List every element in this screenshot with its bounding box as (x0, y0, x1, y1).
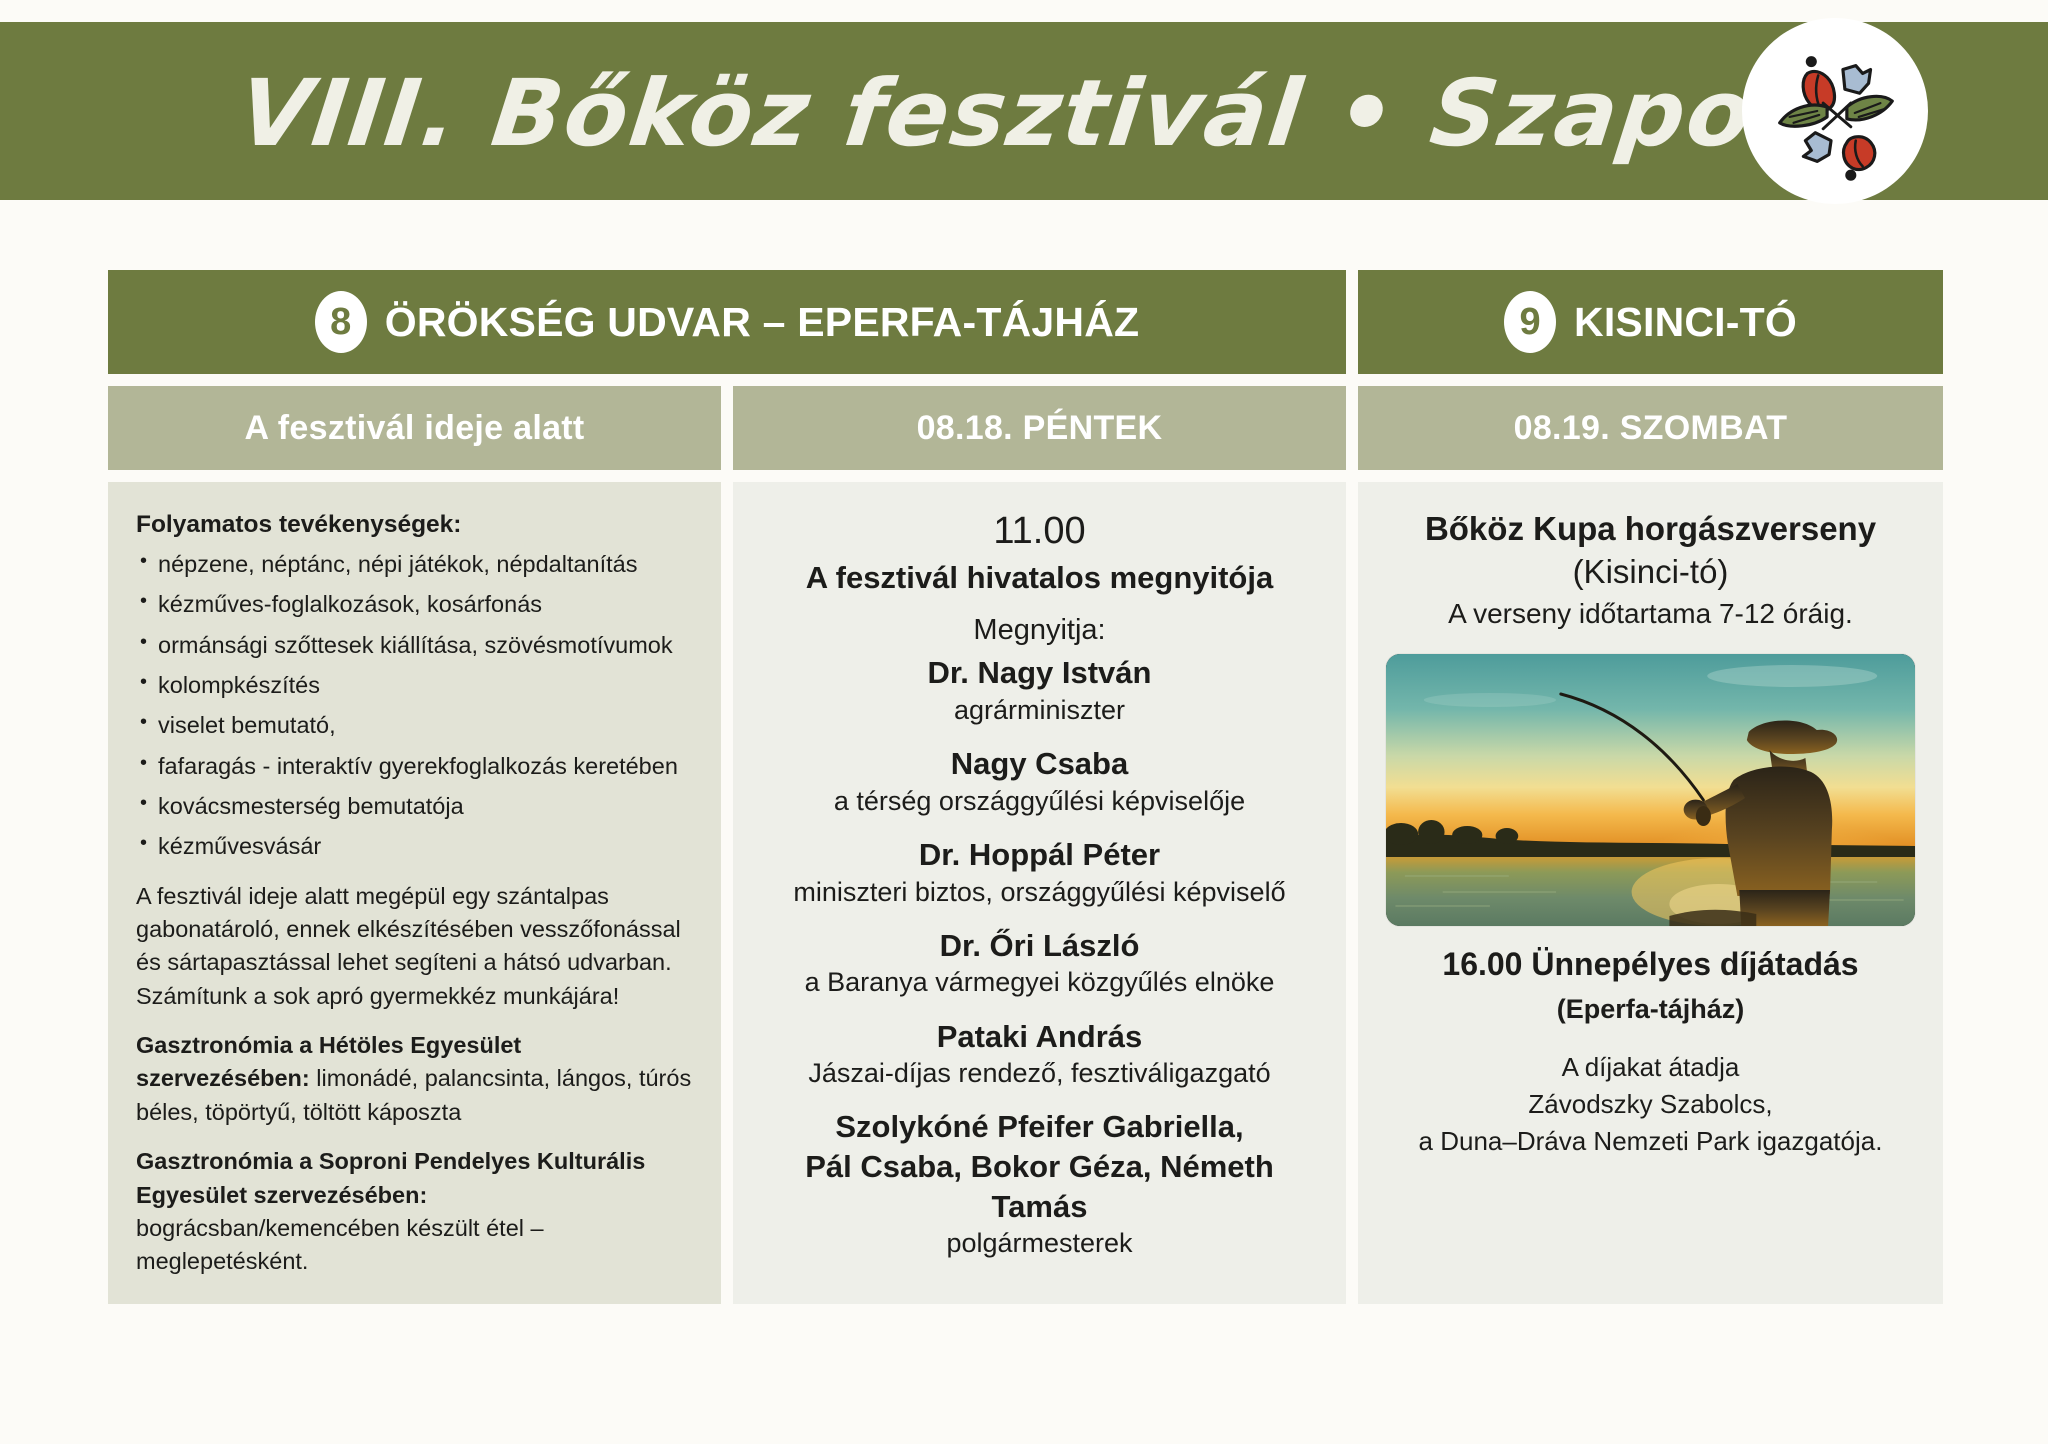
location-name: ÖRÖKSÉG UDVAR – EPERFA-TÁJHÁZ (385, 299, 1140, 346)
fishing-contest-title-main: Bőköz Kupa horgászverseny (1425, 510, 1876, 547)
speaker-role: a Baranya vármegyei közgyűlés elnöke (761, 965, 1318, 1000)
column-gutter (721, 482, 733, 1304)
speaker-name: Dr. Őri László (761, 926, 1318, 966)
speaker-name: Nagy Csaba (761, 744, 1318, 784)
poster-page: VIII. Bőköz fesztivál • Szaporca (0, 0, 2048, 1444)
speaker-name: Pataki András (761, 1017, 1318, 1057)
list-item: kézművesvásár (136, 830, 693, 863)
location-header-row: 8 ÖRÖKSÉG UDVAR – EPERFA-TÁJHÁZ 9 KISINC… (108, 270, 1943, 374)
location-header-9: 9 KISINCI-TÓ (1358, 270, 1943, 374)
panel-friday-program: 11.00 A fesztivál hivatalos megnyitója M… (733, 482, 1346, 1304)
award-presenter-note: A díjakat átadja Závodszky Szabolcs, a D… (1386, 1049, 1915, 1160)
column-gutter (1346, 270, 1358, 374)
folk-floral-motif-icon (1742, 18, 1928, 204)
gastronomy-pendelyes-items: bográcsban/kemencében készült étel – meg… (136, 1212, 693, 1279)
content-row: Folyamatos tevékenységek: népzene, néptá… (108, 482, 1943, 1304)
location-name: KISINCI-TÓ (1574, 299, 1797, 346)
date-label: 08.19. SZOMBAT (1514, 409, 1788, 448)
location-number-badge: 9 (1504, 291, 1556, 353)
date-header-row: A fesztivál ideje alatt 08.18. PÉNTEK 08… (108, 386, 1943, 470)
continuous-activities-heading: Folyamatos tevékenységek: (136, 508, 693, 543)
opening-time: 11.00 (761, 508, 1318, 556)
date-label: A fesztivál ideje alatt (244, 409, 584, 448)
speaker-role: miniszteri biztos, országgyűlési képvise… (761, 875, 1318, 910)
list-item: kovácsmesterség bemutatója (136, 790, 693, 823)
row-gutter (108, 374, 1943, 386)
panel-saturday-program: Bőköz Kupa horgászverseny (Kisinci-tó) A… (1358, 482, 1943, 1304)
award-ceremony-location: (Eperfa-tájház) (1386, 992, 1915, 1027)
column-gutter (1346, 386, 1358, 470)
opening-event-title: A fesztivál hivatalos megnyitója (761, 558, 1318, 598)
list-item: viselet bemutató, (136, 709, 693, 742)
speaker-role: a térség országgyűlési képviselője (761, 784, 1318, 819)
list-item: népzene, néptánc, népi játékok, népdalta… (136, 548, 693, 581)
location-number-badge: 8 (315, 291, 367, 353)
granary-build-paragraph: A fesztivál ideje alatt megépül egy szán… (136, 880, 693, 1013)
header-band: VIII. Bőköz fesztivál • Szaporca (0, 22, 2048, 200)
list-item: fafaragás - interaktív gyerekfoglalkozás… (136, 750, 693, 783)
list-item: ormánsági szőttesek kiállítása, szövésmo… (136, 629, 693, 662)
speaker-name: Szolykóné Pfeifer Gabriella, Pál Csaba, … (761, 1107, 1318, 1226)
speaker-role: Jászai-díjas rendező, fesztiváligazgató (761, 1056, 1318, 1091)
date-header-festival-duration: A fesztivál ideje alatt (108, 386, 721, 470)
speaker-name: Dr. Nagy István (761, 653, 1318, 693)
date-header-friday: 08.18. PÉNTEK (733, 386, 1346, 470)
fishing-sunset-photo (1386, 654, 1915, 926)
panel-festival-duration: Folyamatos tevékenységek: népzene, néptá… (108, 482, 721, 1304)
continuous-activities-list: népzene, néptánc, népi játékok, népdalta… (136, 548, 693, 864)
date-label: 08.18. PÉNTEK (917, 409, 1163, 448)
fishing-contest-title: Bőköz Kupa horgászverseny (Kisinci-tó) (1386, 508, 1915, 594)
fishing-contest-duration: A verseny időtartama 7-12 óráig. (1386, 596, 1915, 632)
fishing-contest-location: (Kisinci-tó) (1573, 553, 1729, 590)
list-item: kézműves-foglalkozások, kosárfonás (136, 588, 693, 621)
program-table: 8 ÖRÖKSÉG UDVAR – EPERFA-TÁJHÁZ 9 KISINC… (108, 270, 1943, 1304)
location-header-8: 8 ÖRÖKSÉG UDVAR – EPERFA-TÁJHÁZ (108, 270, 1346, 374)
speaker-role: agrárminiszter (761, 693, 1318, 728)
speaker-name: Dr. Hoppál Péter (761, 835, 1318, 875)
gastronomy-hetoles-block: Gasztronómia a Hétöles Egyesület szervez… (136, 1029, 693, 1129)
award-ceremony-title: 16.00 Ünnepélyes díjátadás (1386, 944, 1915, 986)
date-header-saturday: 08.19. SZOMBAT (1358, 386, 1943, 470)
speaker-role: polgármesterek (761, 1226, 1318, 1261)
list-item: kolompkészítés (136, 669, 693, 702)
page-title: VIII. Bőköz fesztivál • Szaporca (232, 48, 1728, 178)
column-gutter (721, 386, 733, 470)
gastronomy-pendelyes-block: Gasztronómia a Soproni Pendelyes Kulturá… (136, 1145, 693, 1278)
gastronomy-pendelyes-organizer: Gasztronómia a Soproni Pendelyes Kulturá… (136, 1145, 693, 1212)
column-gutter (1346, 482, 1358, 1304)
opened-by-label: Megnyitja: (761, 612, 1318, 650)
row-gutter (108, 470, 1943, 482)
